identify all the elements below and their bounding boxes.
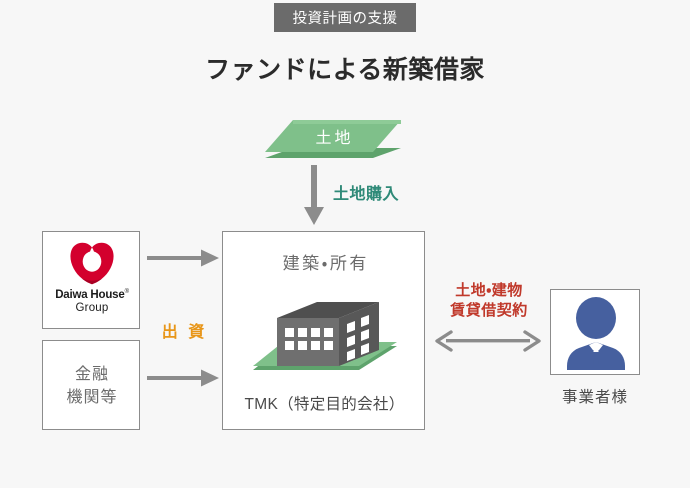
arrow-tmk-to-operator xyxy=(433,330,543,352)
tmk-caption: TMK（特定目的会社） xyxy=(223,392,426,414)
lease-contract-line1: 土地・建物 xyxy=(455,282,523,299)
endless-heart-logo-icon xyxy=(69,241,115,285)
land-purchase-arrow xyxy=(303,165,325,227)
lease-contract-label: 土地・建物 賃貸借契約 xyxy=(428,281,550,322)
arrow-right-icon xyxy=(147,248,219,268)
header-badge: 投資計画の支援 xyxy=(274,3,416,32)
daiwa-house-logo: Daiwa House® Group xyxy=(43,241,141,316)
building-on-land-icon xyxy=(247,294,405,386)
land-label: 土地 xyxy=(265,124,401,148)
land-plate-top: 土地 xyxy=(265,116,401,162)
arrow-bank-to-tmk xyxy=(147,368,219,388)
daiwa-house-wordmark: Daiwa House® xyxy=(43,289,141,302)
arrow-down-icon xyxy=(303,165,325,227)
node-financial-institutions: 金融 機関等 xyxy=(42,340,140,430)
tmk-role-label: 建築・所有 xyxy=(223,249,426,274)
diagram-canvas: 投資計画の支援 ファンドによる新築借家 土地 土地購入 Daiwa House®… xyxy=(0,0,690,488)
lease-contract-line2: 賃貸借契約 xyxy=(450,302,528,319)
businessman-icon xyxy=(565,296,627,370)
land-purchase-label: 土地購入 xyxy=(333,180,399,204)
building-illustration xyxy=(247,294,405,386)
node-tmk: 建築・所有 xyxy=(222,231,425,430)
financial-institutions-line2: 機関等 xyxy=(66,386,117,409)
daiwa-house-group-text: Group xyxy=(43,302,141,316)
financial-institutions-line1: 金融 xyxy=(75,363,109,386)
node-daiwa-house-group: Daiwa House® Group xyxy=(42,231,140,329)
registered-mark-icon: ® xyxy=(125,289,129,295)
fund-investment-label: 出 資 xyxy=(150,318,216,342)
financial-institutions-label: 金融 機関等 xyxy=(43,341,141,431)
arrow-daiwa-to-tmk xyxy=(147,248,219,268)
arrow-double-head-icon xyxy=(433,330,543,352)
daiwa-house-wordmark-text: Daiwa House xyxy=(55,289,124,301)
node-operator xyxy=(550,289,640,375)
arrow-right-icon xyxy=(147,368,219,388)
operator-label: 事業者様 xyxy=(530,385,660,407)
page-title: ファンドによる新築借家 xyxy=(0,50,690,86)
